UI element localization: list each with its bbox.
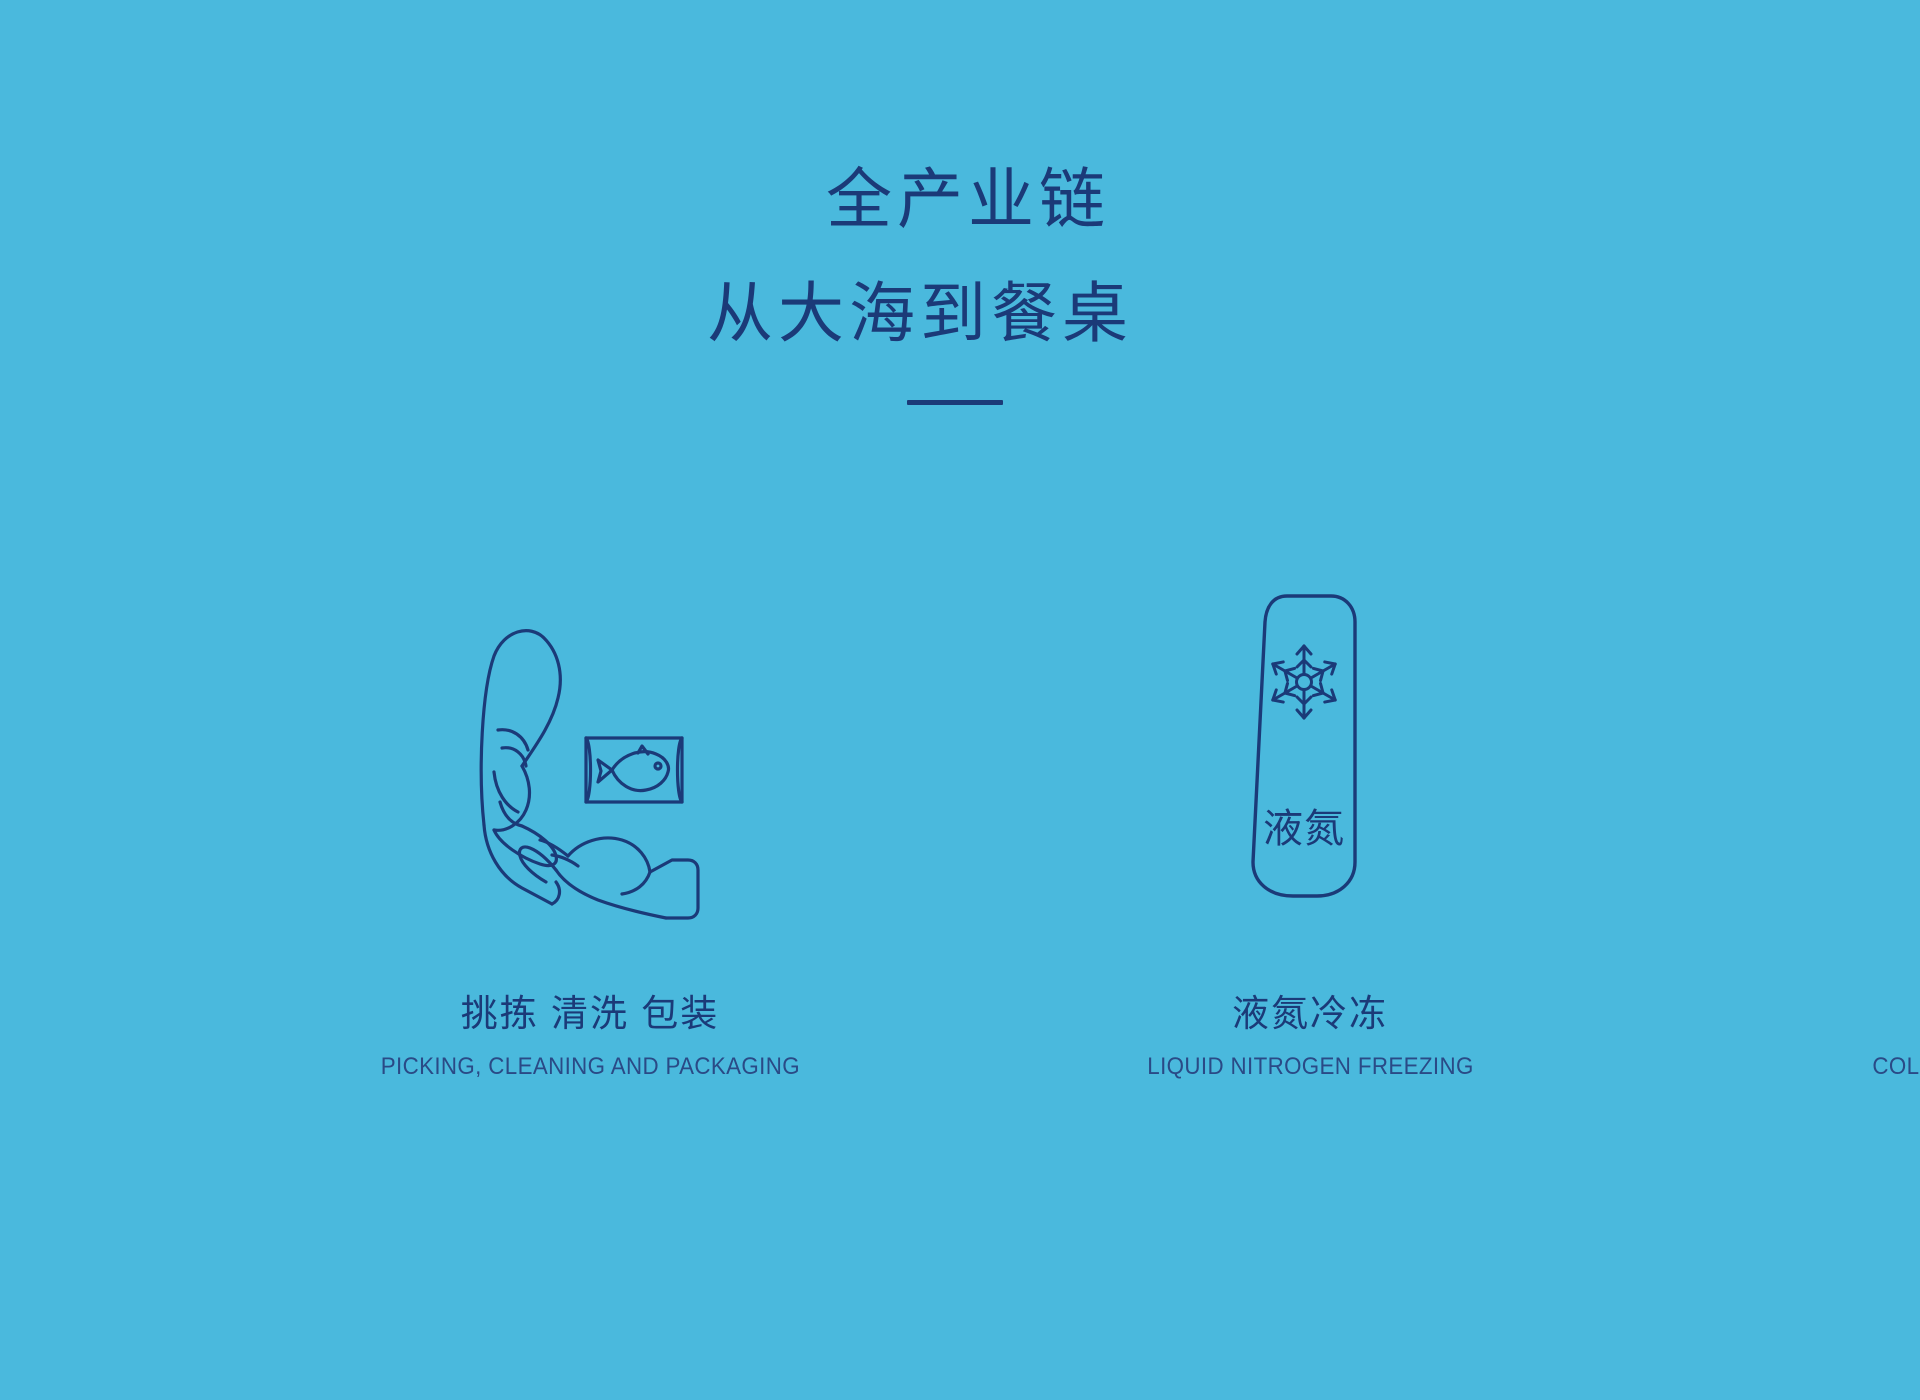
step-4-labels: 冷链运输 COLD CHAIN TRANSPORTATION bbox=[1859, 994, 1920, 1081]
step-4-label-cn: 冷链运输 bbox=[1859, 994, 1920, 1035]
step-2-label-en: PICKING, CLEANING AND PACKAGING bbox=[380, 1053, 799, 1081]
step-fishing-at-sea: 出海捕捞 FISHING AT SEA bbox=[0, 520, 120, 1081]
title-divider bbox=[907, 400, 1003, 405]
snowflake-icon bbox=[1269, 646, 1338, 718]
step-3-label-cn: 液氮冷冻 bbox=[1135, 994, 1486, 1035]
hands-fish-package-icon-box bbox=[460, 520, 720, 920]
hands-fish-package-icon bbox=[460, 620, 720, 920]
infographic-canvas: 全产业链 从大海到餐桌 bbox=[0, 0, 1920, 1400]
step-2-labels: 挑拣 清洗 包装 PICKING, CLEANING AND PACKAGING bbox=[365, 994, 816, 1081]
step-3-labels: 液氮冷冻 LIQUID NITROGEN FREEZING bbox=[1135, 994, 1486, 1081]
page-header: 全产业链 从大海到餐桌 bbox=[0, 168, 1920, 405]
step-liquid-nitrogen-freezing: 液氮 液氮冷冻 LIQUID NITROGEN FREEZING bbox=[1070, 520, 1550, 1081]
title-divider-wrap bbox=[0, 400, 1920, 405]
process-steps-row: 出海捕捞 FISHING AT SEA bbox=[0, 520, 1920, 1081]
liquid-nitrogen-tank-icon: 液氮 bbox=[1235, 590, 1385, 920]
step-picking-cleaning-packaging: 挑拣 清洗 包装 PICKING, CLEANING AND PACKAGING bbox=[350, 520, 830, 1081]
page-title-line-2: 从大海到餐桌 bbox=[0, 282, 1920, 348]
tank-caption: 液氮 bbox=[1263, 807, 1345, 851]
liquid-nitrogen-tank-icon-box: 液氮 bbox=[1235, 520, 1385, 920]
page-title-line-1: 全产业链 bbox=[16, 168, 1920, 234]
step-cold-chain-transportation: 冷链运输 COLD CHAIN TRANSPORTATION bbox=[1810, 520, 1920, 1081]
step-4-label-en: COLD CHAIN TRANSPORTATION bbox=[1873, 1053, 1920, 1081]
step-2-label-cn: 挑拣 清洗 包装 bbox=[365, 994, 816, 1035]
step-3-label-en: LIQUID NITROGEN FREEZING bbox=[1147, 1053, 1473, 1081]
